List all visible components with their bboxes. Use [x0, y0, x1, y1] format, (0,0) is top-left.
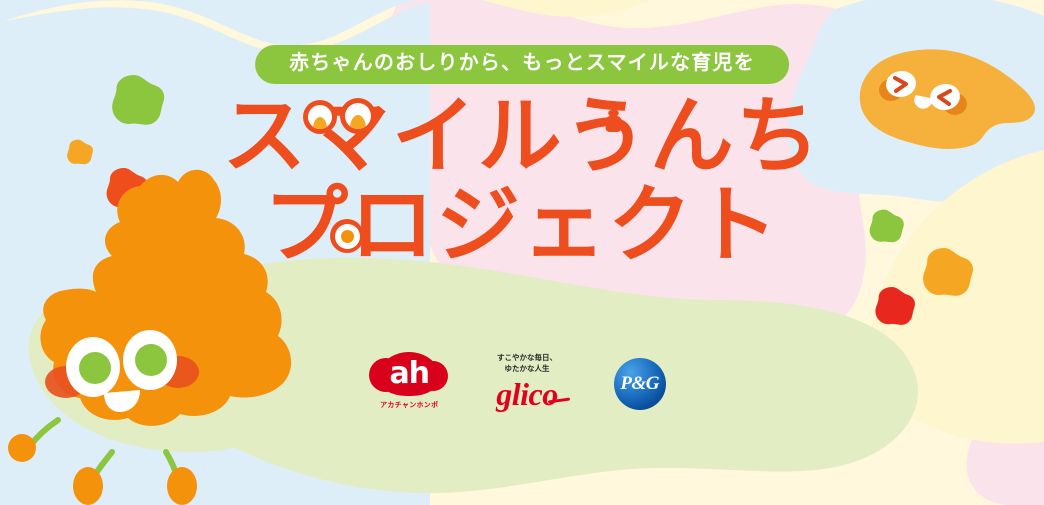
logo-glico[interactable]: すこやかな毎日、 ゆたかな人生 glico	[496, 353, 557, 410]
tagline-pill: 赤ちゃんのおしりから、もっとスマイルな育児を	[255, 45, 789, 84]
hero-banner: 赤ちゃんのおしりから、もっとスマイルな育児を スマイルうんち プロジェクト ah…	[0, 0, 1044, 505]
title-eye-icon-2	[340, 98, 376, 134]
title-eye-icon-1	[303, 100, 337, 134]
eye-arc	[350, 115, 366, 129]
eye-arc	[313, 117, 328, 129]
poop-swirl-icon	[602, 104, 626, 134]
glico-tagline: すこやかな毎日、 ゆたかな人生	[497, 353, 557, 375]
eye-white	[345, 103, 371, 129]
logo-procter-and-gamble[interactable]: P&G	[614, 358, 666, 410]
glico-tagline-line2: ゆたかな人生	[497, 364, 557, 375]
sponsor-logos: ah アカチャンホンポ すこやかな毎日、 ゆたかな人生 glico P&G	[0, 352, 1044, 410]
pg-circle-mark: P&G	[614, 358, 666, 410]
title-eye-icon-3	[330, 219, 364, 253]
eye-dot	[341, 230, 354, 243]
ah-wordmark: ah	[389, 359, 429, 389]
glico-tagline-line1: すこやかな毎日、	[497, 353, 557, 364]
glico-wordmark: glico	[496, 378, 557, 410]
logo-akachan-honpo[interactable]: ah アカチャンホンポ	[378, 352, 440, 410]
ah-sublabel: アカチャンホンポ	[380, 400, 438, 410]
eye-white	[335, 224, 360, 249]
ah-blob-mark: ah	[378, 352, 440, 396]
pg-wordmark: P&G	[620, 373, 659, 395]
eye-white	[308, 105, 332, 129]
